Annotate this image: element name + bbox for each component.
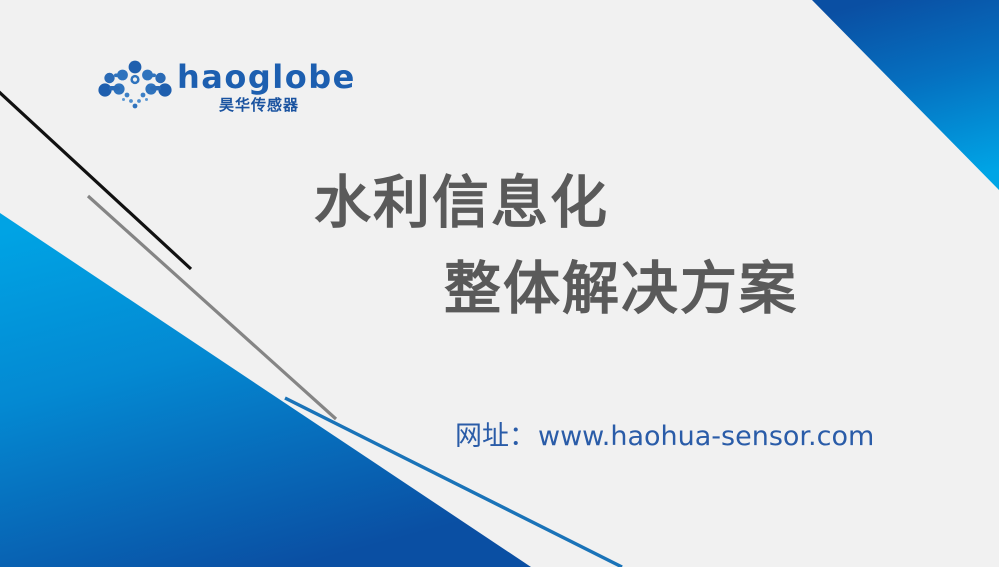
title-line-2: 整体解决方案 xyxy=(444,246,900,332)
haoglobe-molecule-icon xyxy=(97,60,173,112)
title-line-1: 水利信息化 xyxy=(314,160,900,246)
logo-wordmark: haoglobe xyxy=(177,58,356,96)
gray-diagonal-line xyxy=(88,196,336,419)
page-title: 水利信息化 整体解决方案 xyxy=(300,160,900,332)
slide-canvas: haoglobe 昊华传感器 水利信息化 整体解决方案 网址：www.haohu… xyxy=(0,0,999,567)
brand-logo[interactable]: haoglobe 昊华传感器 xyxy=(97,58,322,120)
website-url-label: 网址： xyxy=(455,421,536,452)
website-url[interactable]: 网址：www.haohua-sensor.com xyxy=(455,420,874,454)
website-url-value[interactable]: www.haohua-sensor.com xyxy=(538,421,874,452)
logo-subtext: 昊华传感器 xyxy=(219,96,299,114)
